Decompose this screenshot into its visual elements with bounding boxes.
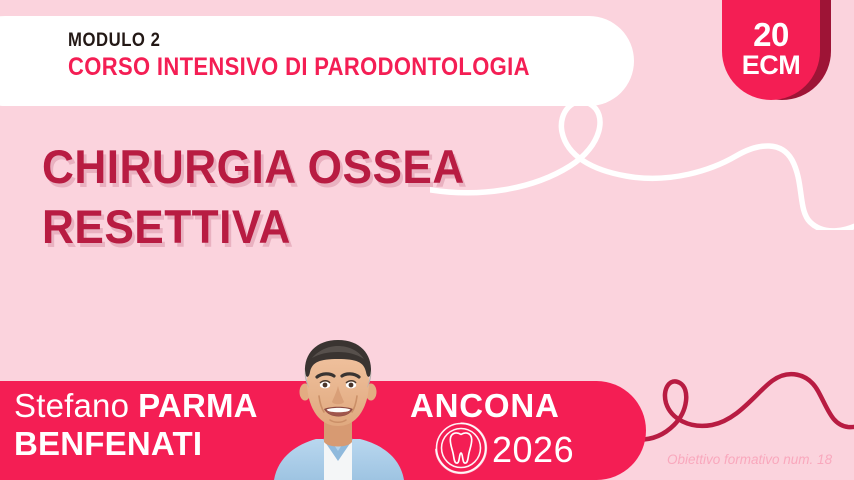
course-label: CORSO INTENSIVO DI PARODONTOLOGIA xyxy=(68,53,530,81)
speaker-last-name-part-2: BENFENATI xyxy=(14,425,258,463)
crimson-swirl-decoration xyxy=(620,355,854,465)
course-poster: MODULO 2 CORSO INTENSIVO DI PARODONTOLOG… xyxy=(0,0,854,480)
ecm-credit-number: 20 xyxy=(753,18,789,51)
speaker-name-line-1: StefanoPARMA xyxy=(14,387,258,425)
title-line-2: RESETTIVA xyxy=(42,197,465,257)
page-title: CHIRURGIA OSSEA RESETTIVA xyxy=(42,137,465,257)
ecm-badge: 20 ECM xyxy=(722,0,820,100)
speaker-portrait xyxy=(268,330,408,480)
header-text-block: MODULO 2 CORSO INTENSIVO DI PARODONTOLOG… xyxy=(68,30,593,81)
training-objective-note: Obiettivo formativo num. 18 xyxy=(667,452,832,467)
event-year: 2026 xyxy=(492,429,574,471)
module-label: MODULO 2 xyxy=(68,30,530,51)
event-year-row: 2026 xyxy=(406,423,574,477)
tooth-circle-logo-icon xyxy=(432,419,490,477)
title-line-1: CHIRURGIA OSSEA xyxy=(42,137,465,197)
speaker-first-name: Stefano xyxy=(14,387,129,424)
event-location-block: ANCONA 2026 xyxy=(406,387,574,477)
speaker-last-name-part-1: PARMA xyxy=(138,387,258,424)
speaker-name-block: StefanoPARMA BENFENATI xyxy=(14,387,258,462)
ecm-credit-unit: ECM xyxy=(742,51,801,80)
